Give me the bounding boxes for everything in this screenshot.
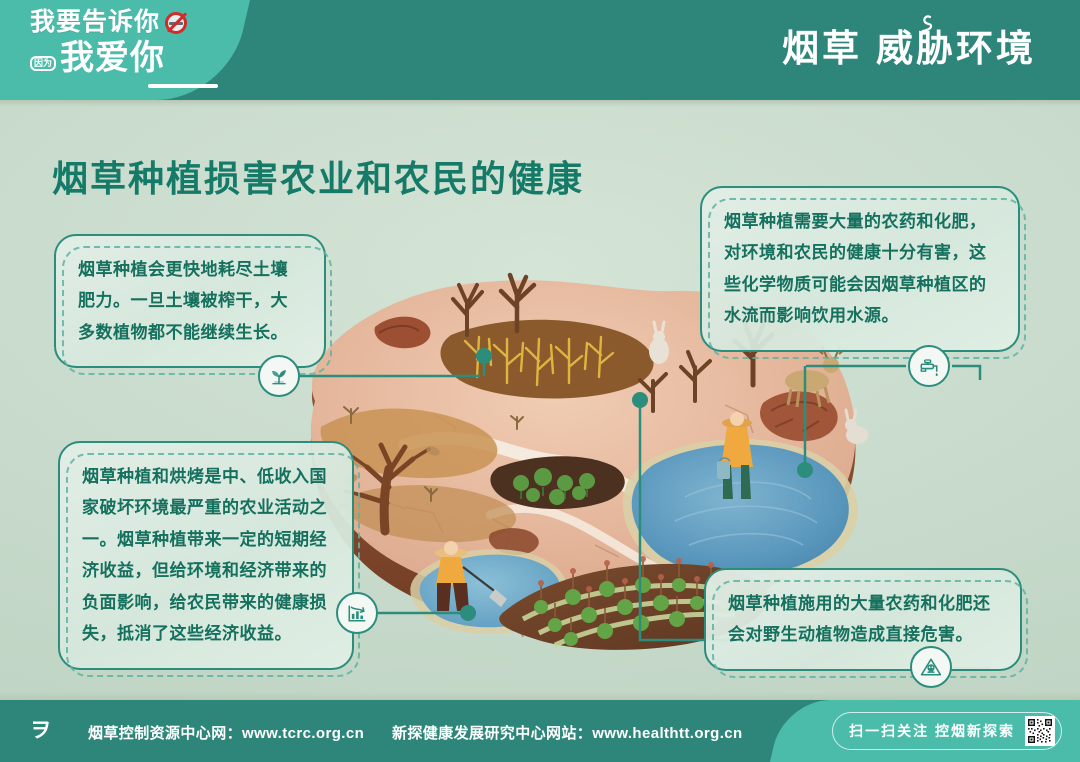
logo-line-2-text: 我爱你 [60,41,165,75]
logo-line-1-text: 我要告诉你 [30,10,160,35]
logo-line-1: 我要告诉你 [30,10,240,35]
infographic-page: 我要告诉你 因为 我爱你 烟草 威胁环境 烟草种植损害农业和农民的健康 [0,0,1080,762]
callout-soil: 烟草种植会更快地耗尽土壤肥力。一旦土壤被榨干，大多数植物都不能继续生长。 [54,234,326,368]
faucet-icon [908,345,950,387]
footer-link-healthtt[interactable]: 新探健康发展研究中心网站：www.healthtt.org.cn [392,722,743,743]
qr-follow-label: 扫一扫关注 控烟新探索 [849,721,1015,741]
callout-pesticide-water: 烟草种植需要大量的农药和化肥，对环境和农民的健康十分有害，这些化学物质可能会因烟… [700,186,1020,352]
declining-chart-icon [336,592,378,634]
connector-dot-water [797,462,813,478]
toxic-warning-icon [910,646,952,688]
connector-water-tail [952,366,980,380]
logo-line-2: 因为 我爱你 [30,41,240,75]
footer-logo-icon: ヲ [30,720,56,742]
page-title-part-2: 威胁环境 [876,18,1036,72]
qr-follow-pill[interactable]: 扫一扫关注 控烟新探索 [832,712,1062,750]
logo-badge-because: 因为 [30,56,56,71]
qr-code-icon[interactable] [1025,716,1055,746]
no-smoking-icon [165,12,187,34]
smoke-wisp-icon [910,14,936,38]
page-header: 我要告诉你 因为 我爱你 烟草 威胁环境 [0,0,1080,100]
sprout-icon [258,355,300,397]
page-footer: ヲ 烟草控制资源中心网：www.tcrc.org.cn 新探健康发展研究中心网站… [0,700,1080,762]
footer-link-tcrc[interactable]: 烟草控制资源中心网：www.tcrc.org.cn [88,722,364,743]
page-title: 烟草 威胁环境 [782,18,1036,72]
campaign-logo: 我要告诉你 因为 我爱你 [30,10,240,90]
callout-wildlife: 烟草种植施用的大量农药和化肥还会对野生动植物造成直接危害。 [704,568,1022,671]
callout-economy: 烟草种植和烘烤是中、低收入国家破坏环境最严重的农业活动之一。烟草种植带来一定的短… [58,441,354,670]
page-title-part-1: 烟草 [782,18,862,72]
connector-dot-wildlife [632,392,648,408]
logo-underline [148,84,218,88]
connector-dot-economy [460,605,476,621]
